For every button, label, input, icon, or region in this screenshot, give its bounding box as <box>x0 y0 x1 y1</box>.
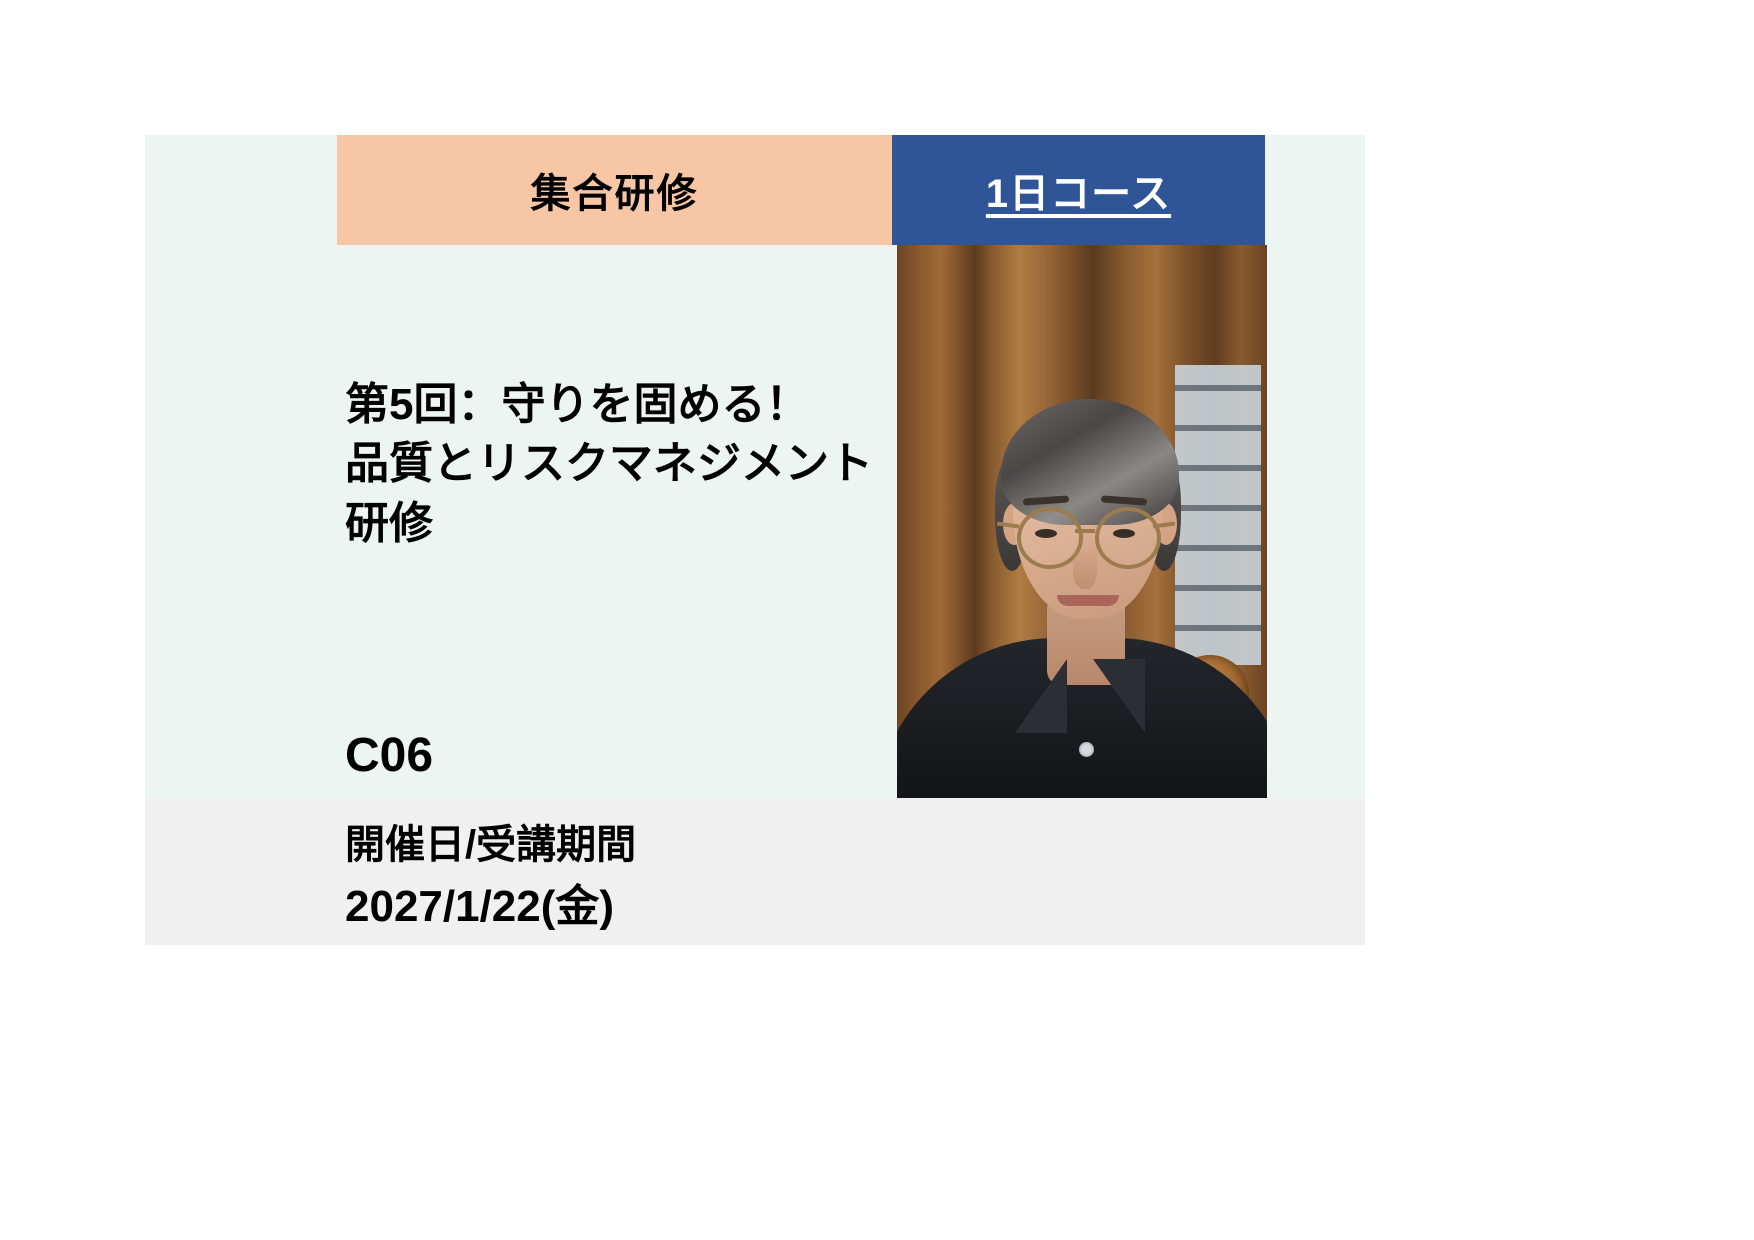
portrait-collar-left <box>1015 659 1067 733</box>
glasses-bridge-icon <box>1075 529 1095 533</box>
training-type-badge[interactable]: 集合研修 <box>337 135 892 245</box>
course-length-badge-label: 1日コース <box>986 161 1171 219</box>
course-title: 第5回：守りを固める！ 品質とリスクマネジメント 研修 <box>345 375 905 553</box>
course-card-page: 集合研修 1日コース 第5回：守りを固める！ 品質とリスクマネジメント 研修 C… <box>0 0 1754 1240</box>
course-title-line-1: 第5回：守りを固める！ <box>345 375 905 434</box>
portrait-collar-right <box>1093 659 1145 733</box>
background-window <box>1175 365 1261 665</box>
course-card: 集合研修 1日コース 第5回：守りを固める！ 品質とリスクマネジメント 研修 C… <box>145 135 1365 945</box>
portrait-hair-top <box>1001 399 1179 525</box>
course-title-line-2: 品質とリスクマネジメント <box>345 434 905 493</box>
training-type-badge-label: 集合研修 <box>531 161 699 219</box>
schedule-value: 2027/1/22(金) <box>345 870 614 934</box>
course-length-badge[interactable]: 1日コース <box>892 135 1265 245</box>
badge-row: 集合研修 1日コース <box>337 135 1265 245</box>
portrait-nose <box>1073 545 1097 589</box>
glasses-lens-right-icon <box>1095 507 1161 569</box>
schedule-section: 開催日/受講期間 2027/1/22(金) <box>145 798 1365 945</box>
schedule-label: 開催日/受講期間 <box>345 812 636 870</box>
instructor-photo-image <box>897 245 1267 853</box>
portrait-shirt-button <box>1079 742 1094 757</box>
portrait-mouth <box>1057 595 1119 606</box>
course-title-line-3: 研修 <box>345 494 905 553</box>
instructor-photo <box>897 245 1267 853</box>
course-code: C06 <box>345 728 433 783</box>
